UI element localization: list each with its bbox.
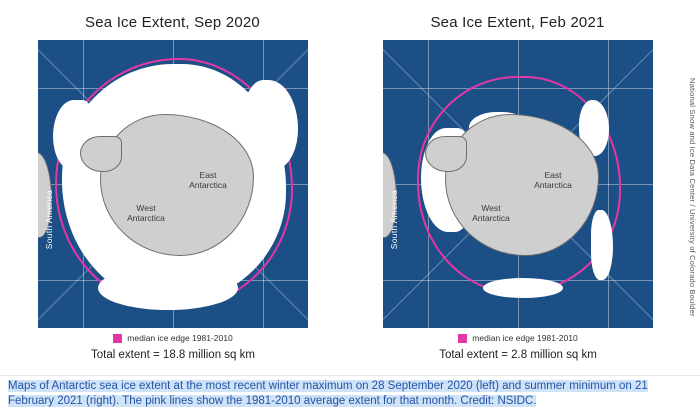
caption-block: Maps of Antarctic sea ice extent at the … [0,375,700,419]
caption-line-1-text: Maps of Antarctic sea ice extent at the … [8,380,648,392]
label-east-antarctica-line1: East [523,170,583,180]
figure-area: Sea Ice Extent, Sep 2020 South America [0,0,700,375]
label-west-antarctica-line1: West [461,203,521,213]
sea-ice-extent-patch [483,278,563,298]
legend-left: median ice edge 1981-2010 [38,330,308,346]
label-east-antarctica-line1: East [178,170,238,180]
median-ice-edge-swatch [113,334,122,343]
total-extent-right: Total extent = 2.8 million sq km [383,349,653,361]
panel-title-left: Sea Ice Extent, Sep 2020 [0,14,345,31]
antarctic-peninsula [80,136,122,172]
panel-title-right: Sea Ice Extent, Feb 2021 [345,14,690,31]
legend-label-left: median ice edge 1981-2010 [127,333,232,343]
label-west-antarctica-line1: West [116,203,176,213]
total-extent-left: Total extent = 18.8 million sq km [38,349,308,361]
label-east-antarctica-line2: Antarctica [178,180,238,190]
map-feb-2021: South America East Antarctica West Antar… [383,40,653,328]
caption-line-1: Maps of Antarctic sea ice extent at the … [8,379,692,394]
map-sep-2020: South America East Antarctica West Antar… [38,40,308,328]
label-west-antarctica-line2: Antarctica [461,213,521,223]
legend-right: median ice edge 1981-2010 [383,330,653,346]
median-ice-edge-swatch [458,334,467,343]
panel-sep-2020: Sea Ice Extent, Sep 2020 South America [0,0,345,375]
credit-vertical: National Snow and Ice Data Center / Univ… [688,78,697,317]
antarctic-peninsula [425,136,467,172]
sea-ice-extent-lobe [98,266,238,310]
caption-line-2: February 2021 (right). The pink lines sh… [8,394,692,409]
caption-line-2-text: February 2021 (right). The pink lines sh… [8,395,536,407]
caption-divider [0,375,700,376]
label-south-america: South America [389,190,399,249]
label-west-antarctica-line2: Antarctica [116,213,176,223]
sea-ice-extent-lobe [244,80,298,170]
label-south-america: South America [44,190,54,249]
legend-label-right: median ice edge 1981-2010 [472,333,577,343]
label-east-antarctica-line2: Antarctica [523,180,583,190]
panel-feb-2021: Sea Ice Extent, Feb 2021 South America E… [345,0,690,375]
sea-ice-extent-patch [591,210,613,280]
